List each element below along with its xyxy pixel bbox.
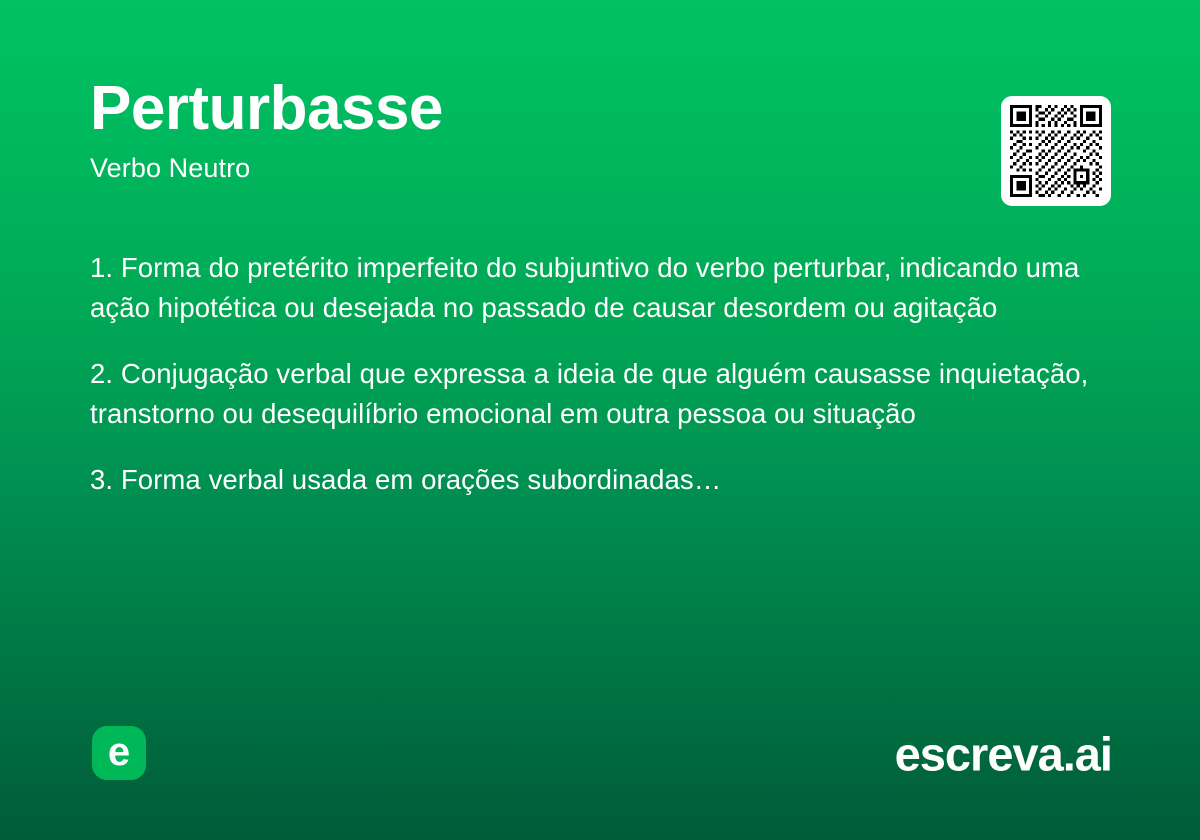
card-header: Perturbasse Verbo Neutro xyxy=(90,78,1110,184)
card-footer: e escreva.ai xyxy=(90,726,1112,782)
brand-wordmark: escreva.ai xyxy=(895,731,1112,778)
definition-item: 2. Conjugação verbal que expressa a idei… xyxy=(90,354,1100,434)
definition-item: 1. Forma do pretérito imperfeito do subj… xyxy=(90,248,1100,328)
page-title: Perturbasse xyxy=(90,78,1110,140)
definition-list: 1. Forma do pretérito imperfeito do subj… xyxy=(90,248,1100,500)
definition-item: 3. Forma verbal usada em orações subordi… xyxy=(90,460,1100,500)
brand-logo-badge: e xyxy=(92,726,146,780)
word-class-label: Verbo Neutro xyxy=(90,140,1110,184)
brand-logo-letter: e xyxy=(92,732,146,772)
definition-card: Perturbasse Verbo Neutro xyxy=(0,0,1200,840)
qr-code-card[interactable] xyxy=(1001,96,1111,206)
qr-code-icon xyxy=(1010,105,1102,197)
